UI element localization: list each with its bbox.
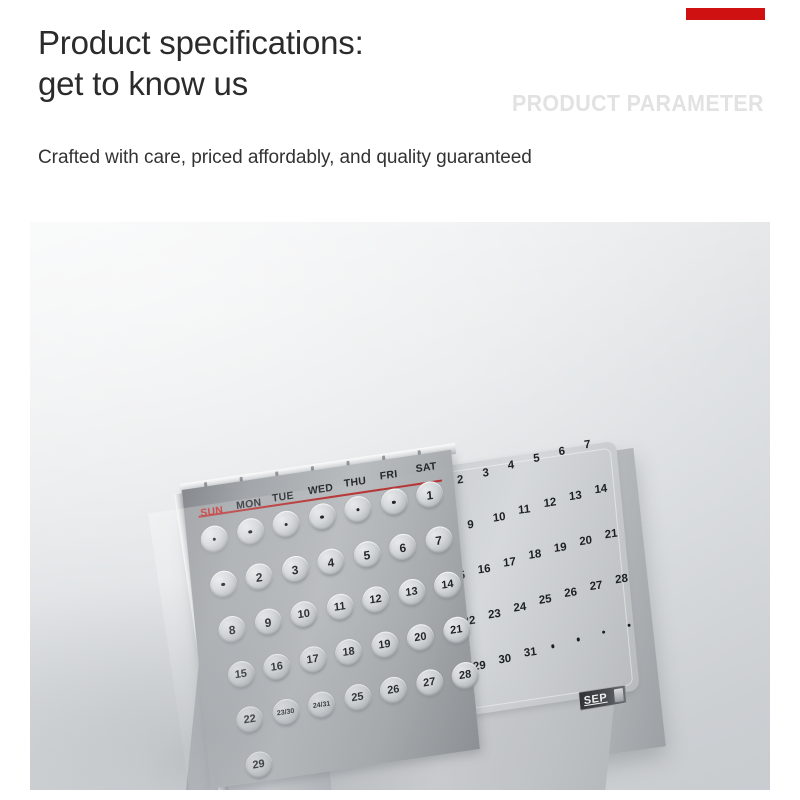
reference-number-30: 30	[498, 653, 512, 666]
reference-number-26: 26	[564, 587, 578, 600]
title-line-1: Product specifications:	[38, 22, 598, 63]
dial-button-8[interactable]: 8	[217, 614, 246, 645]
dial-button-17[interactable]: 17	[298, 645, 327, 676]
dial-button-20[interactable]: 20	[406, 622, 435, 653]
reference-number-19: 19	[554, 542, 568, 555]
dial-button-9[interactable]: 9	[253, 607, 282, 638]
dial-button-blank[interactable]	[307, 502, 336, 533]
calendar-faceplate: SUNMONTUEWEDTHUFRISAT 123456789101112131…	[182, 450, 480, 789]
dial-button-7[interactable]: 7	[424, 525, 453, 556]
reference-number-24: 24	[513, 601, 527, 614]
dial-button-23-30[interactable]: 23/30	[271, 697, 300, 728]
dial-button-21[interactable]: 21	[442, 615, 471, 646]
month-slider-knob[interactable]	[614, 688, 624, 702]
reference-number-28: 28	[615, 573, 629, 586]
weekday-label-wed: WED	[307, 482, 333, 498]
reference-number-20: 20	[579, 535, 593, 548]
reference-number-9: 9	[467, 519, 474, 531]
month-label: SEP	[583, 691, 608, 707]
reference-dot	[627, 623, 631, 627]
desk-calendar-object: 1234567891011121314151617181920212223242…	[30, 222, 770, 790]
red-accent-bar	[686, 8, 765, 20]
dial-button-3[interactable]: 3	[280, 554, 309, 585]
dial-button-blank[interactable]	[271, 509, 300, 540]
dial-button-10[interactable]: 10	[289, 599, 318, 630]
reference-number-14: 14	[594, 483, 608, 496]
reference-number-4: 4	[507, 460, 514, 472]
dial-button-2[interactable]: 2	[244, 562, 273, 593]
dial-button-25[interactable]: 25	[343, 682, 372, 713]
dial-button-4[interactable]: 4	[316, 547, 345, 578]
reference-number-7: 7	[584, 439, 591, 451]
weekday-label-fri: FRI	[379, 468, 398, 483]
dial-button-18[interactable]: 18	[334, 637, 363, 668]
page-subtitle: Crafted with care, priced affordably, an…	[38, 145, 532, 171]
dial-button-11[interactable]: 11	[325, 592, 354, 623]
reference-number-2: 2	[457, 474, 464, 486]
watermark-product-parameter: PRODUCT PARAMETER	[512, 90, 764, 116]
dial-button-24-31[interactable]: 24/31	[307, 690, 336, 721]
reference-number-23: 23	[488, 608, 502, 621]
reference-number-13: 13	[569, 490, 583, 503]
dial-button-26[interactable]: 26	[379, 675, 408, 706]
reference-number-16: 16	[477, 563, 491, 576]
dial-button-13[interactable]: 13	[397, 577, 426, 608]
dial-button-5[interactable]: 5	[352, 539, 381, 570]
dial-button-blank[interactable]	[209, 569, 238, 600]
reference-number-6: 6	[558, 446, 565, 458]
page-header: Product specifications: get to know us P…	[0, 0, 800, 222]
dial-button-19[interactable]: 19	[370, 630, 399, 661]
reference-number-17: 17	[503, 556, 517, 569]
reference-number-18: 18	[528, 549, 542, 562]
reference-number-5: 5	[533, 453, 540, 465]
reference-number-21: 21	[604, 528, 618, 541]
dial-button-27[interactable]: 27	[415, 668, 444, 699]
reference-number-10: 10	[492, 511, 506, 524]
product-photo: 1234567891011121314151617181920212223242…	[30, 222, 770, 790]
reference-number-27: 27	[589, 580, 603, 593]
dial-button-29[interactable]: 29	[244, 750, 273, 781]
reference-number-12: 12	[543, 497, 557, 510]
weekday-label-sat: SAT	[415, 460, 437, 475]
dial-button-16[interactable]: 16	[262, 652, 291, 683]
reference-number-25: 25	[539, 594, 553, 607]
dial-button-12[interactable]: 12	[361, 585, 390, 616]
dial-button-blank[interactable]	[343, 494, 372, 525]
dial-button-blank[interactable]	[200, 524, 229, 555]
reference-number-31: 31	[523, 646, 537, 659]
dial-button-22[interactable]: 22	[235, 705, 264, 736]
reference-number-11: 11	[518, 505, 531, 518]
dial-button-15[interactable]: 15	[226, 659, 255, 690]
reference-number-3: 3	[482, 467, 489, 479]
weekday-label-thu: THU	[343, 475, 366, 490]
dial-button-6[interactable]: 6	[388, 532, 417, 563]
dial-button-blank[interactable]	[236, 516, 265, 547]
dial-button-14[interactable]: 14	[433, 570, 462, 601]
